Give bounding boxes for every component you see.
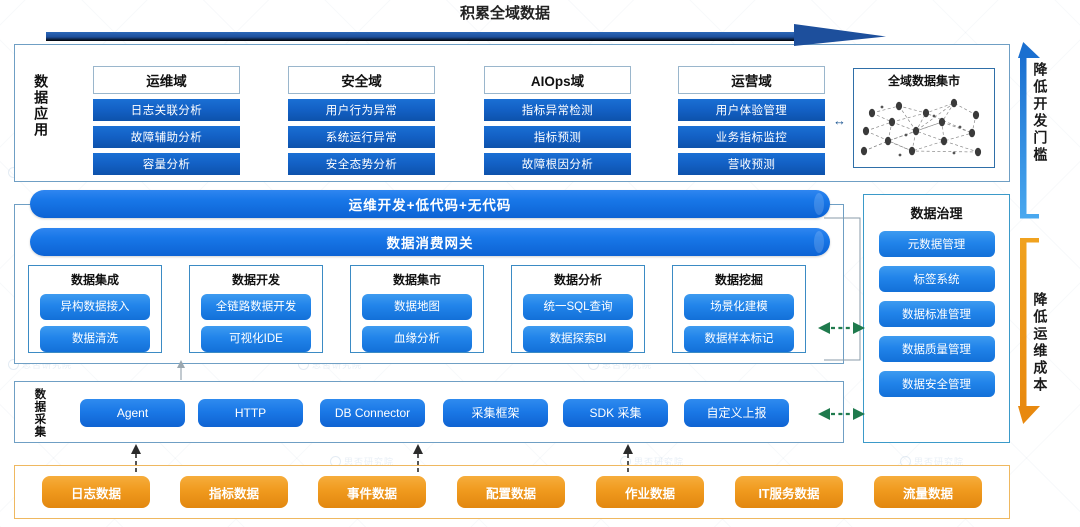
- reduce-operation-cost-label: 降低运维成本: [1032, 292, 1047, 394]
- connector-arrows-group: [0, 0, 1080, 527]
- reduce-development-threshold-label: 降低开发门槛: [1032, 62, 1047, 164]
